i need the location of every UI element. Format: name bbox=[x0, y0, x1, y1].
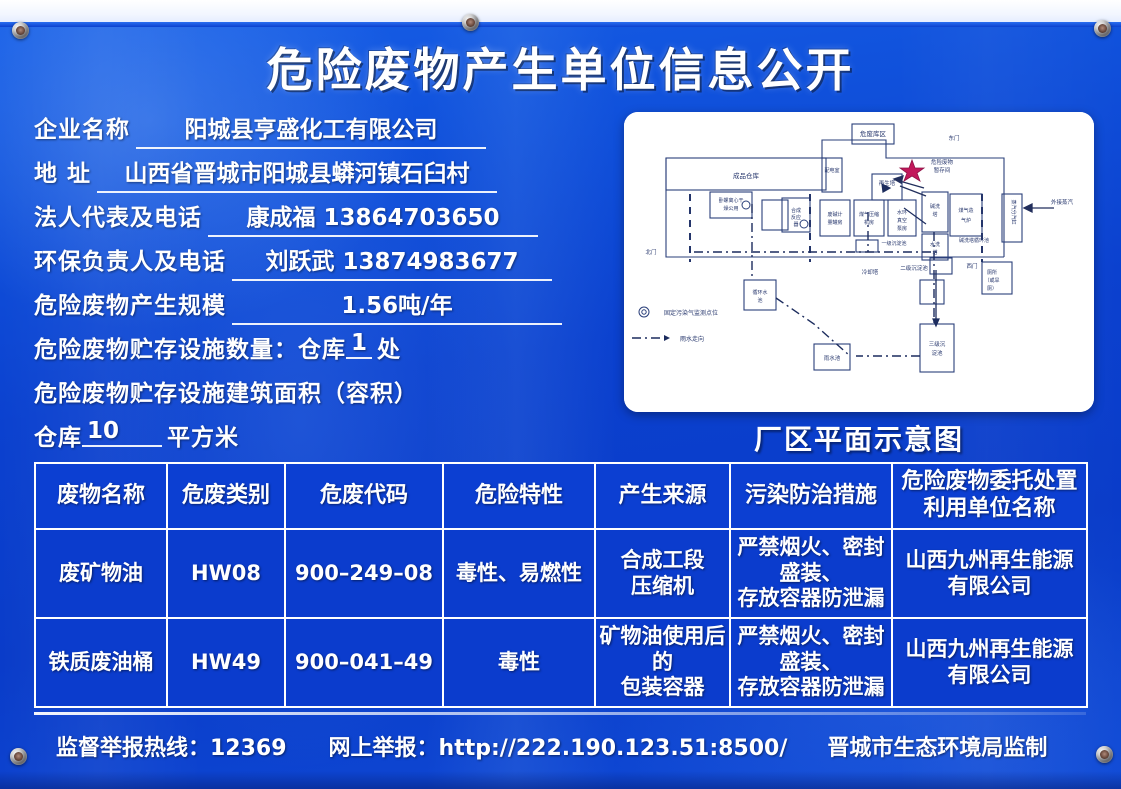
info-row-storage-area-value: 仓库 10 平方米 bbox=[34, 418, 594, 462]
svg-text:危废库区: 危废库区 bbox=[860, 129, 887, 138]
svg-text:循环水: 循环水 bbox=[752, 289, 767, 296]
bolt-bottom-left-icon bbox=[10, 748, 27, 765]
cell-measures-line1: 严禁烟火、密封盛装、 bbox=[732, 535, 890, 586]
cell-measures-line1: 严禁烟火、密封盛装、 bbox=[732, 624, 890, 675]
board-bottom-shadow bbox=[0, 771, 1121, 789]
th-waste-category: 危废类别 bbox=[167, 463, 285, 529]
footer-divider bbox=[34, 712, 1086, 715]
cell-source-line1: 矿物油使用后的 bbox=[597, 624, 728, 675]
table-row: 废矿物油 HW08 900–249–08 毒性、易燃性 合成工段 压缩机 严禁烟… bbox=[35, 529, 1087, 618]
cell-disposal-line1: 山西九州再生能源 bbox=[894, 548, 1085, 574]
svg-text:煤气压缩: 煤气压缩 bbox=[859, 211, 879, 218]
unit-storage-count: 处 bbox=[377, 330, 401, 364]
footer-authority: 晋城市生态环境局监制 bbox=[827, 730, 1047, 762]
cell-waste-name: 废矿物油 bbox=[35, 529, 167, 618]
th-disposal-unit-line1: 危险废物委托处置 bbox=[894, 469, 1085, 496]
info-row-storage-count: 危险废物贮存设施数量：仓库 1 处 bbox=[34, 330, 594, 374]
svg-text:再生塔: 再生塔 bbox=[879, 179, 896, 187]
svg-text:废碱计: 废碱计 bbox=[827, 211, 842, 218]
value-env-officer: 刘跃武 13874983677 bbox=[232, 242, 552, 281]
cell-source: 合成工段 压缩机 bbox=[595, 529, 730, 618]
th-waste-code: 危废代码 bbox=[285, 463, 443, 529]
svg-text:机房: 机房 bbox=[864, 219, 874, 226]
value-generation-scale: 1.56吨/年 bbox=[232, 286, 562, 325]
cell-source-line2: 包装容器 bbox=[597, 675, 728, 701]
cell-hazard-property: 毒性 bbox=[443, 618, 595, 707]
value-address: 山西省晋城市阳城县蟒河镇石臼村 bbox=[97, 154, 497, 193]
svg-text:雨水池: 雨水池 bbox=[824, 354, 841, 362]
footer: 监督举报热线：12369 网上举报：http://222.190.123.51:… bbox=[34, 728, 1086, 764]
table-header-row: 废物名称 危废类别 危废代码 危险特性 产生来源 污染防治措施 危险废物委托处置… bbox=[35, 463, 1087, 529]
svg-text:塔: 塔 bbox=[932, 211, 937, 218]
svg-text:反应: 反应 bbox=[791, 214, 801, 221]
info-row-company-name: 企业名称 阳城县亨盛化工有限公司 bbox=[34, 110, 594, 154]
label-storage-count: 危险废物贮存设施数量：仓库 bbox=[34, 330, 346, 364]
svg-text:暂存间: 暂存间 bbox=[934, 166, 951, 174]
svg-text:合成: 合成 bbox=[791, 207, 801, 214]
label-warehouse: 仓库 bbox=[34, 418, 82, 452]
svg-text:真空: 真空 bbox=[897, 217, 907, 224]
svg-text:危险废物: 危险废物 bbox=[931, 158, 954, 166]
board-top-blue-band bbox=[0, 22, 1121, 27]
svg-text:气炉: 气炉 bbox=[961, 217, 971, 224]
svg-text:卧螺离心干: 卧螺离心干 bbox=[718, 197, 743, 204]
footer-online-report: 网上举报：http://222.190.123.51:8500/ bbox=[329, 730, 788, 762]
cell-waste-code: 900–249–08 bbox=[285, 529, 443, 618]
enterprise-info-block: 企业名称 阳城县亨盛化工有限公司 地 址 山西省晋城市阳城县蟒河镇石臼村 法人代… bbox=[34, 110, 594, 462]
cell-source: 矿物油使用后的 包装容器 bbox=[595, 618, 730, 707]
hazardous-waste-table: 废物名称 危废类别 危废代码 危险特性 产生来源 污染防治措施 危险废物委托处置… bbox=[34, 462, 1086, 708]
information-board: 危险废物产生单位信息公开 企业名称 阳城县亨盛化工有限公司 地 址 山西省晋城市… bbox=[0, 0, 1121, 789]
info-row-generation-scale: 危险废物产生规模 1.56吨/年 bbox=[34, 286, 594, 330]
svg-text:成品仓库: 成品仓库 bbox=[733, 171, 760, 180]
label-legal-rep: 法人代表及电话 bbox=[34, 198, 202, 232]
svg-text:二级沉淀池: 二级沉淀池 bbox=[900, 264, 928, 272]
svg-text:碱洗: 碱洗 bbox=[930, 203, 940, 210]
svg-text:水环: 水环 bbox=[897, 209, 907, 216]
svg-text:器: 器 bbox=[793, 222, 798, 228]
svg-text:厕）: 厕） bbox=[987, 286, 997, 292]
svg-text:厕所: 厕所 bbox=[987, 269, 997, 276]
svg-text:（或旱: （或旱 bbox=[984, 277, 999, 284]
th-waste-name: 废物名称 bbox=[35, 463, 167, 529]
th-disposal-unit: 危险废物委托处置 利用单位名称 bbox=[892, 463, 1087, 529]
svg-text:外接蒸汽: 外接蒸汽 bbox=[1051, 198, 1074, 206]
value-storage-area: 10 bbox=[82, 418, 162, 447]
svg-text:泵房: 泵房 bbox=[897, 225, 907, 232]
cell-waste-name: 铁质废油桶 bbox=[35, 618, 167, 707]
cell-waste-category: HW08 bbox=[167, 529, 285, 618]
cell-source-line2: 压缩机 bbox=[597, 574, 728, 600]
svg-text:一级沉淀池: 一级沉淀池 bbox=[881, 240, 906, 247]
value-legal-rep: 康成福 13864703650 bbox=[208, 198, 538, 237]
site-plan-svg: 成品仓库 危废库区 配电室 再生塔 危险废物 暂存间 卧螺离心干 燥公用 合成 … bbox=[624, 112, 1094, 412]
site-plan-diagram: 成品仓库 危废库区 配电室 再生塔 危险废物 暂存间 卧螺离心干 燥公用 合成 … bbox=[624, 112, 1094, 412]
footer-hotline: 监督举报热线：12369 bbox=[56, 730, 287, 762]
svg-text:量罐房: 量罐房 bbox=[827, 219, 842, 226]
cell-measures-line2: 存放容器防泄漏 bbox=[732, 675, 890, 701]
svg-text:池: 池 bbox=[757, 297, 762, 304]
label-storage-area: 危险废物贮存设施建筑面积（容积） bbox=[34, 374, 418, 408]
label-address: 地 址 bbox=[34, 154, 91, 188]
svg-text:固定污染气监测点位: 固定污染气监测点位 bbox=[664, 309, 718, 317]
th-source: 产生来源 bbox=[595, 463, 730, 529]
th-disposal-unit-line2: 利用单位名称 bbox=[894, 496, 1085, 523]
svg-text:雨水走向: 雨水走向 bbox=[680, 335, 704, 343]
cell-disposal-line2: 有限公司 bbox=[894, 663, 1085, 689]
info-row-storage-area-label: 危险废物贮存设施建筑面积（容积） bbox=[34, 374, 594, 418]
bolt-top-center-icon bbox=[462, 14, 479, 31]
info-row-env-officer: 环保负责人及电话 刘跃武 13874983677 bbox=[34, 242, 594, 286]
cell-measures: 严禁烟火、密封盛装、 存放容器防泄漏 bbox=[730, 529, 892, 618]
label-company-name: 企业名称 bbox=[34, 110, 130, 144]
page-title: 危险废物产生单位信息公开 bbox=[0, 34, 1121, 100]
svg-text:淀池: 淀池 bbox=[931, 349, 943, 357]
cell-disposal-unit: 山西九州再生能源 有限公司 bbox=[892, 529, 1087, 618]
th-hazard-property: 危险特性 bbox=[443, 463, 595, 529]
unit-storage-area: 平方米 bbox=[167, 418, 239, 452]
cell-waste-category: HW49 bbox=[167, 618, 285, 707]
info-row-address: 地 址 山西省晋城市阳城县蟒河镇石臼村 bbox=[34, 154, 594, 198]
bolt-bottom-right-icon bbox=[1096, 746, 1113, 763]
cell-waste-code: 900–041–49 bbox=[285, 618, 443, 707]
label-env-officer: 环保负责人及电话 bbox=[34, 242, 226, 276]
info-row-legal-rep: 法人代表及电话 康成福 13864703650 bbox=[34, 198, 594, 242]
cell-measures-line2: 存放容器防泄漏 bbox=[732, 586, 890, 612]
svg-text:三级沉: 三级沉 bbox=[929, 340, 946, 348]
value-company-name: 阳城县亨盛化工有限公司 bbox=[136, 110, 486, 149]
svg-text:水洗: 水洗 bbox=[930, 241, 940, 248]
cell-disposal-unit: 山西九州再生能源 有限公司 bbox=[892, 618, 1087, 707]
th-measures: 污染防治措施 bbox=[730, 463, 892, 529]
svg-text:塔: 塔 bbox=[932, 249, 937, 256]
svg-text:蒸汽分汽缸: 蒸汽分汽缸 bbox=[1010, 199, 1017, 224]
cell-measures: 严禁烟火、密封盛装、 存放容器防泄漏 bbox=[730, 618, 892, 707]
site-plan-caption: 厂区平面示意图 bbox=[624, 418, 1094, 458]
svg-text:北门: 北门 bbox=[645, 248, 656, 256]
svg-text:冷却塔: 冷却塔 bbox=[862, 268, 879, 276]
table-row: 铁质废油桶 HW49 900–041–49 毒性 矿物油使用后的 包装容器 严禁… bbox=[35, 618, 1087, 707]
cell-disposal-line2: 有限公司 bbox=[894, 574, 1085, 600]
cell-source-line1: 合成工段 bbox=[597, 548, 728, 574]
svg-text:碱洗塔循环池: 碱洗塔循环池 bbox=[959, 237, 989, 244]
svg-text:东门: 东门 bbox=[948, 134, 959, 142]
label-generation-scale: 危险废物产生规模 bbox=[34, 286, 226, 320]
cell-hazard-property: 毒性、易燃性 bbox=[443, 529, 595, 618]
svg-text:煤气造: 煤气造 bbox=[958, 207, 973, 214]
svg-text:西门: 西门 bbox=[966, 262, 977, 270]
value-storage-count: 1 bbox=[346, 330, 372, 359]
svg-text:燥公用: 燥公用 bbox=[723, 205, 738, 212]
svg-text:配电室: 配电室 bbox=[824, 167, 839, 174]
cell-disposal-line1: 山西九州再生能源 bbox=[894, 637, 1085, 663]
